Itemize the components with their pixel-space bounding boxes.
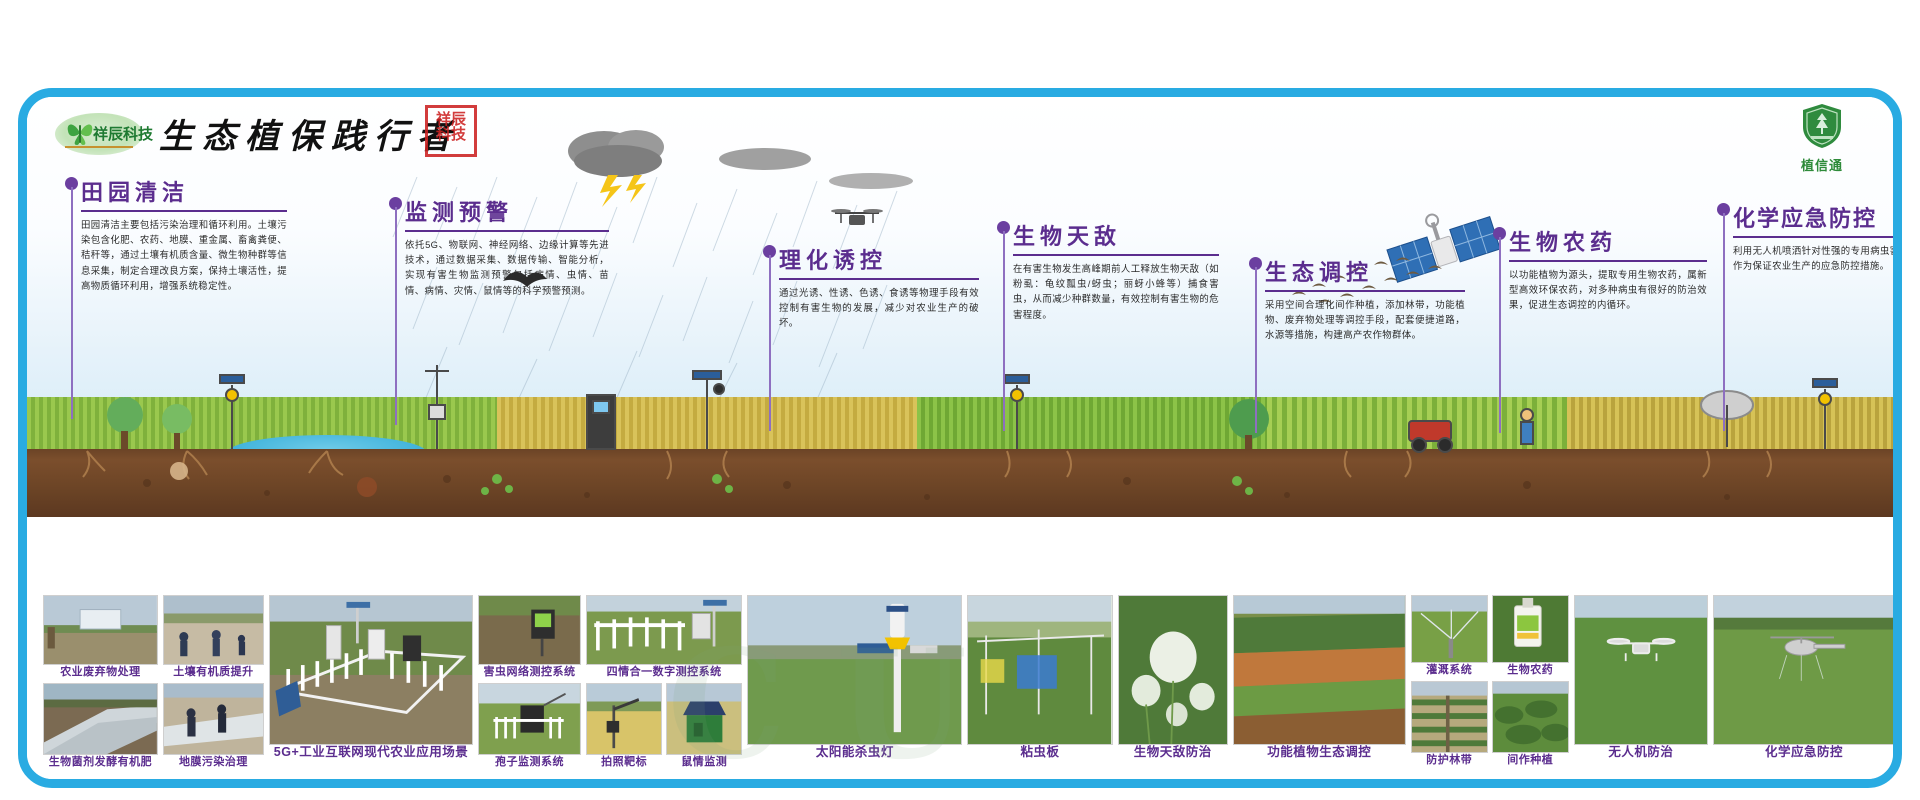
photo-caption: 太阳能杀虫灯: [747, 745, 962, 760]
section-underline: [1013, 254, 1219, 256]
photo-column: 功能植物生态调控: [1233, 595, 1406, 781]
green-shield-icon: [1801, 103, 1843, 149]
drone-icon: [827, 205, 887, 239]
photo-caption: 害虫网络测控系统: [478, 665, 581, 680]
section-stem: [395, 207, 397, 425]
photo-cell: 灌溉系统 生物农药: [1411, 595, 1569, 678]
red-seal-stamp: 祥辰 科技: [425, 105, 477, 157]
section-title: 田园清洁: [81, 175, 287, 210]
photo-solar-lamp: [747, 595, 962, 745]
photo-cell[interactable]: 功能植物生态调控: [1233, 595, 1406, 760]
leaf-badge-icon: 祥辰科技: [55, 113, 143, 155]
photo-column: 太阳能杀虫灯: [747, 595, 962, 781]
photo-cell[interactable]: 地膜污染治理: [163, 683, 264, 770]
section-stem: [1003, 231, 1005, 431]
photo-caption: 生物天敌防治: [1118, 745, 1228, 760]
photo-cell[interactable]: 土壤有机质提升: [163, 595, 264, 680]
field-equipment-overlay: [27, 345, 1893, 455]
section-monitoring-warning: 监测预警 依托5G、物联网、神经网络、边缘计算等先进技术，通过数据采集、数据传输…: [405, 195, 609, 298]
photo-helicopter-spray: [1713, 595, 1895, 745]
photo-caption: 防护林带: [1411, 753, 1488, 768]
section-underline: [405, 230, 609, 232]
brand-logo: 祥辰科技 生态植保践行者: [55, 109, 460, 158]
photo-cell: 防护林带 间作种植: [1411, 681, 1569, 768]
photo-drone-spray: [1574, 595, 1708, 745]
photo-column: 无人机防治: [1574, 595, 1708, 781]
photo-caption: 农业废弃物处理: [43, 665, 158, 680]
photo-four-in-one: [586, 595, 742, 665]
section-stem: [1255, 267, 1257, 433]
section-stem: [769, 255, 771, 431]
photo-caption: 鼠情监测: [666, 755, 742, 770]
photo-caption: 间作种植: [1492, 753, 1569, 768]
partner-logo: 植信通: [1785, 103, 1859, 174]
section-title: 生物天敌: [1013, 219, 1219, 254]
section-stem: [1723, 213, 1725, 431]
section-biopesticide: 生物农药 以功能植物为源头，提取专用生物农药，属新型高效环保农药，对多种病虫有很…: [1509, 225, 1707, 313]
photo-compost-rows: [43, 683, 158, 755]
photo-column: 化学应急防控: [1713, 595, 1895, 781]
section-body: 以功能植物为源头，提取专用生物农药，属新型高效环保农药，对多种病虫有很好的防治效…: [1509, 267, 1707, 313]
photo-caption: 无人机防治: [1574, 745, 1708, 760]
photo-biopesticide-bottle[interactable]: [1492, 595, 1569, 663]
section-body: 利用无人机喷洒针对性强的专用病虫害药剂，作为保证农业生产的应急防控措施。: [1733, 243, 1902, 273]
photo-irrigation[interactable]: [1411, 595, 1488, 663]
photo-soil-work: [163, 595, 264, 665]
photo-cell[interactable]: 粘虫板: [967, 595, 1112, 760]
section-title: 生物农药: [1509, 225, 1707, 260]
section-underline: [81, 210, 287, 212]
photo-rodent-box[interactable]: [666, 683, 742, 755]
poster-header: 祥辰科技 生态植保践行者 祥辰 科技 植信通: [27, 97, 1893, 169]
seal-line-2: 科技: [430, 127, 472, 142]
photo-column: 粘虫板: [967, 595, 1112, 781]
photo-cell[interactable]: 生物菌剂发酵有机肥: [43, 683, 158, 770]
page-title: 生态植保践行者: [159, 109, 460, 158]
section-ecological-regulation: 生态调控 采用空间合理化间作种植，添加林带，功能植物、废弃物处理等调控手段，配套…: [1265, 255, 1465, 343]
photo-caption: 生物农药: [1492, 663, 1569, 678]
section-underline: [1509, 260, 1707, 262]
photo-caption: 功能植物生态调控: [1233, 745, 1406, 760]
photo-caption: 土壤有机质提升: [163, 665, 264, 680]
photo-strip: 农业废弃物处理 生物菌剂发酵有机肥: [43, 595, 1895, 781]
photo-caption: 化学应急防控: [1713, 745, 1895, 760]
photo-cell[interactable]: 孢子监测系统: [478, 683, 581, 770]
photo-column: 四情合一数字测控系统 拍照靶标: [586, 595, 742, 781]
photo-cell[interactable]: 农业废弃物处理: [43, 595, 158, 680]
photo-cell[interactable]: 太阳能杀虫灯: [747, 595, 962, 760]
photo-caption: 孢子监测系统: [478, 755, 581, 770]
photo-cell[interactable]: 5G+工业互联网现代农业应用场景: [269, 595, 473, 760]
photo-strip-crops: [1233, 595, 1406, 745]
section-stem: [1499, 237, 1501, 433]
photo-column: 5G+工业互联网现代农业应用场景: [269, 595, 473, 781]
photo-station-yard: [269, 595, 473, 745]
poster-frame: CU 祥辰科技 生态植保践行者: [18, 88, 1902, 788]
section-title: 监测预警: [405, 195, 609, 230]
section-body: 通过光诱、性诱、色诱、食诱等物理手段有效控制有害生物的发展，减少对农业生产的破坏…: [779, 285, 979, 331]
section-title: 化学应急防控: [1733, 201, 1902, 236]
section-natural-enemies: 生物天敌 在有害生物发生高峰期前人工释放生物天敌（如粉虱：龟纹瓢虫/蚜虫；丽蚜小…: [1013, 219, 1219, 322]
photo-column: 害虫网络测控系统 孢子监测系统: [478, 595, 581, 781]
photo-caption: 灌溉系统: [1411, 663, 1488, 678]
photo-shelterbelt[interactable]: [1411, 681, 1488, 753]
photo-column: 农业废弃物处理 生物菌剂发酵有机肥: [43, 595, 158, 781]
photo-cell[interactable]: 无人机防治: [1574, 595, 1708, 760]
photo-column: 灌溉系统 生物农药: [1411, 595, 1569, 781]
section-body: 在有害生物发生高峰期前人工释放生物天敌（如粉虱：龟纹瓢虫/蚜虫；丽蚜小蜂等）捕食…: [1013, 261, 1219, 322]
section-body: 依托5G、物联网、神经网络、边缘计算等先进技术，通过数据采集、数据传输、智能分析…: [405, 237, 609, 298]
photo-cell[interactable]: 害虫网络测控系统: [478, 595, 581, 680]
section-underline: [779, 278, 979, 280]
section-body: 田园清洁主要包括污染治理和循环利用。土壤污染包含化肥、农药、地膜、重金属、畜禽粪…: [81, 217, 287, 293]
photo-caption: 地膜污染治理: [163, 755, 264, 770]
photo-cell[interactable]: 生物天敌防治: [1118, 595, 1228, 760]
section-underline: [1265, 290, 1465, 292]
photo-caption: 四情合一数字测控系统: [586, 665, 742, 680]
photo-sticky-board: [967, 595, 1112, 745]
logo-company-name: 祥辰科技: [93, 123, 153, 144]
photo-white-flower: [1118, 595, 1228, 745]
photo-caption: 5G+工业互联网现代农业应用场景: [269, 745, 473, 760]
section-title: 理化诱控: [779, 243, 979, 278]
partner-logo-name: 植信通: [1785, 155, 1859, 174]
photo-cell: 拍照靶标 鼠情监测: [586, 683, 742, 770]
photo-intercropping[interactable]: [1492, 681, 1569, 753]
section-stem: [71, 187, 73, 419]
photo-field-waste: [43, 595, 158, 665]
photo-spore-device: [478, 683, 581, 755]
butterfly-icon: [64, 119, 96, 147]
photo-cell[interactable]: 四情合一数字测控系统: [586, 595, 742, 680]
poster-root: CU 祥辰科技 生态植保践行者: [0, 0, 1920, 800]
photo-column: 土壤有机质提升 地膜污染治理: [163, 595, 264, 781]
section-farmland-cleaning: 田园清洁 田园清洁主要包括污染治理和循环利用。土壤污染包含化肥、农药、地膜、重金…: [81, 175, 287, 293]
section-title: 生态调控: [1265, 255, 1465, 290]
section-body: 采用空间合理化间作种植，添加林带，功能植物、废弃物处理等调控手段，配套便捷道路，…: [1265, 297, 1465, 343]
photo-caption: 粘虫板: [967, 745, 1112, 760]
section-underline: [1733, 236, 1902, 238]
photo-column: 生物天敌防治: [1118, 595, 1228, 781]
photo-caption: 拍照靶标: [586, 755, 662, 770]
photo-caption: 生物菌剂发酵有机肥: [43, 755, 158, 770]
soil-detail-overlay: [27, 449, 1893, 517]
poster-frame-inner: CU 祥辰科技 生态植保践行者: [27, 97, 1893, 779]
photo-mulch-cleanup: [163, 683, 264, 755]
section-chemical-emergency: 化学应急防控 利用无人机喷洒针对性强的专用病虫害药剂，作为保证农业生产的应急防控…: [1733, 201, 1902, 273]
photo-camera-target[interactable]: [586, 683, 662, 755]
photo-pest-net-device: [478, 595, 581, 665]
photo-cell[interactable]: 化学应急防控: [1713, 595, 1895, 760]
section-physical-chemical-trapping: 理化诱控 通过光诱、性诱、色诱、食诱等物理手段有效控制有害生物的发展，减少对农业…: [779, 243, 979, 331]
